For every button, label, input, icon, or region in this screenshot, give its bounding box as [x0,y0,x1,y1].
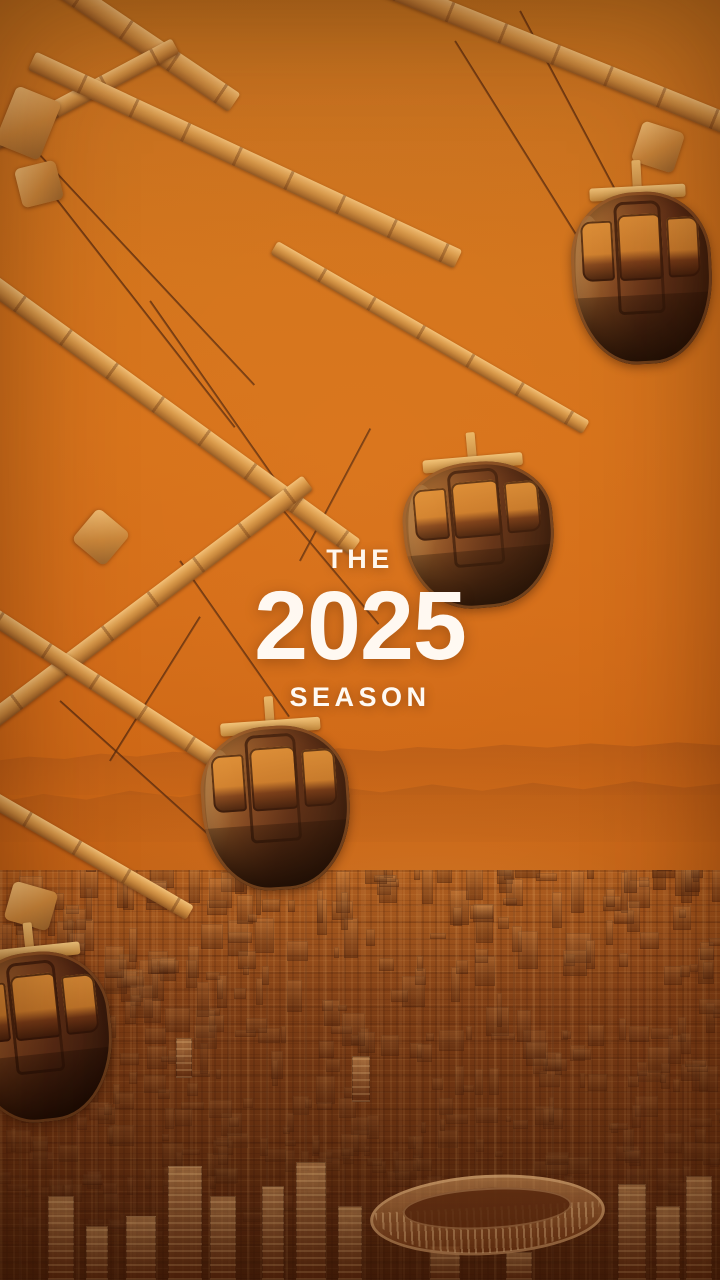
title-line-season: SEASON [0,684,720,711]
gondola-lower-center [196,721,355,895]
beam-mid-right-diagonal [270,241,589,434]
poster-canvas: THE 2025 SEASON [0,0,720,1280]
hub-top-left [0,85,62,160]
gondola-cabin [196,721,355,895]
gondola-cabin [0,945,120,1129]
title-block: THE 2025 SEASON [0,546,720,711]
cable-c [149,300,288,498]
title-line-the: THE [0,546,720,573]
title-line-year: 2025 [0,580,720,671]
gondola-top-right [568,188,717,367]
gondola-cabin [568,188,717,367]
beam-upper-right-long [342,0,720,141]
beam-upper-mid-long [28,52,462,269]
gondola-bottom-left [0,945,120,1129]
